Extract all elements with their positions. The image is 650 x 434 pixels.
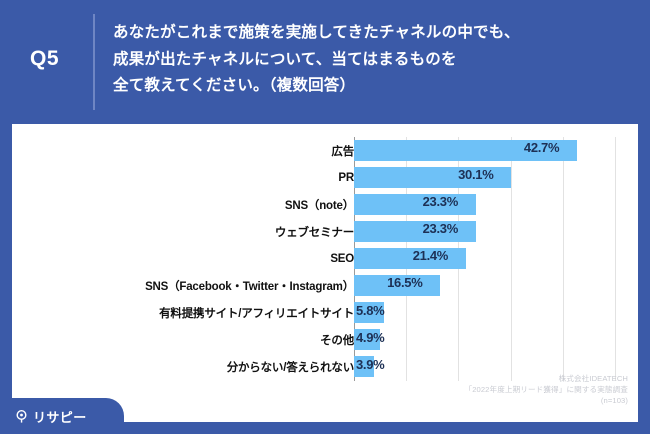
chart-bar-value: 23.3%: [423, 221, 458, 236]
chart-category-label: 有料提携サイト/アフィリエイトサイト: [159, 305, 354, 321]
attribution-company: 株式会社IDEATECH: [465, 373, 628, 384]
chart-row: ウェブセミナー23.3%: [12, 218, 638, 245]
attribution-survey: 「2022年度上期リード獲得」に関する実態調査: [465, 384, 628, 395]
chart-row: 広告42.7%: [12, 137, 638, 164]
chart-bar-value: 21.4%: [413, 248, 448, 263]
question-number: Q5: [30, 48, 59, 69]
brand-logo: リサピー: [0, 398, 124, 434]
question-line-2: 成果が出たチャネルについて、当てはまるものを: [113, 47, 633, 74]
attribution: 株式会社IDEATECH 「2022年度上期リード獲得」に関する実態調査 (n=…: [465, 373, 628, 406]
chart-category-label: その他: [320, 332, 354, 348]
brand-logo-text: リサピー: [33, 407, 87, 426]
attribution-sample-size: (n=103): [465, 395, 628, 406]
question-header: Q5 あなたがこれまで施策を実施してきたチャネルの中でも、 成果が出たチャネルに…: [0, 0, 650, 124]
chart-category-label: SEO: [330, 253, 354, 265]
chart-bar: [354, 248, 466, 269]
question-text: あなたがこれまで施策を実施してきたチャネルの中でも、 成果が出たチャネルについて…: [113, 20, 633, 100]
chart-category-label: SNS（note）: [285, 197, 354, 213]
question-line-1: あなたがこれまで施策を実施してきたチャネルの中でも、: [113, 20, 633, 47]
chart-row: SEO21.4%: [12, 245, 638, 272]
chart-category-label: 広告: [331, 143, 354, 159]
chart-bar-value: 42.7%: [524, 140, 559, 155]
chart-bar-value: 5.8%: [356, 303, 384, 318]
chart-row: その他4.9%: [12, 327, 638, 354]
chart-row: 有料提携サイト/アフィリエイトサイト5.8%: [12, 300, 638, 327]
question-line-3: 全て教えてください。（複数回答）: [113, 73, 633, 100]
chart-card: 広告42.7%PR30.1%SNS（note）23.3%ウェブセミナー23.3%…: [12, 124, 638, 422]
chart-bar-value: 23.3%: [423, 194, 458, 209]
chart-category-label: ウェブセミナー: [275, 224, 354, 240]
chart-bar-value: 3.9%: [356, 357, 384, 372]
chart-bar-value: 16.5%: [387, 275, 422, 290]
header-divider: [93, 14, 95, 110]
chart-rows: 広告42.7%PR30.1%SNS（note）23.3%ウェブセミナー23.3%…: [12, 137, 638, 381]
chart-category-label: SNS（Facebook・Twitter・Instagram）: [145, 278, 354, 294]
chart-category-label: 分からない/答えられない: [227, 359, 354, 375]
chart-category-label: PR: [338, 172, 354, 184]
chart-row: PR30.1%: [12, 164, 638, 191]
chart-bar-value: 4.9%: [356, 330, 384, 345]
chart-bar-value: 30.1%: [458, 167, 493, 182]
bar-chart: 広告42.7%PR30.1%SNS（note）23.3%ウェブセミナー23.3%…: [12, 124, 638, 422]
location-pin-icon: [14, 409, 29, 424]
chart-row: SNS（note）23.3%: [12, 191, 638, 218]
chart-row: SNS（Facebook・Twitter・Instagram）16.5%: [12, 272, 638, 299]
